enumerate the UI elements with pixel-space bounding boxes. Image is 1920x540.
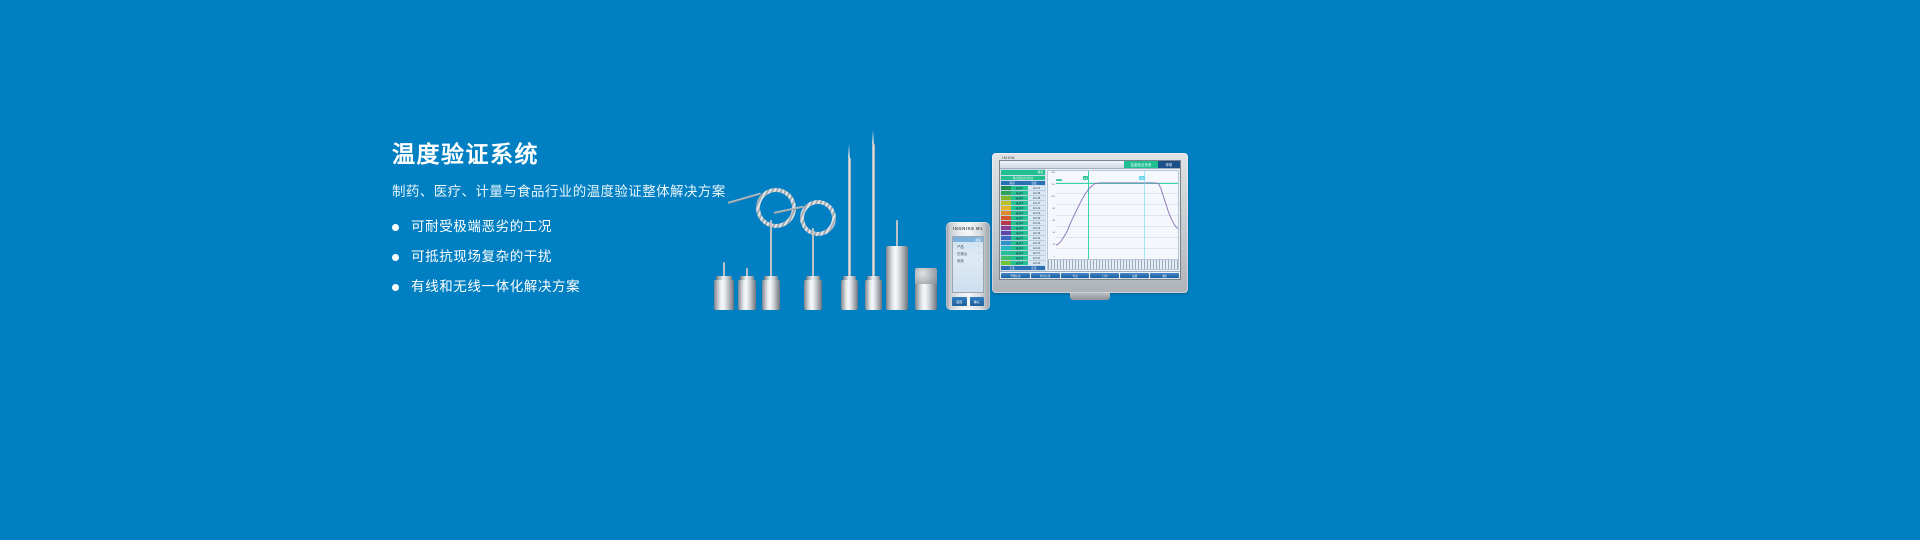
handheld-row-value: ◦ (978, 251, 979, 256)
channel-color-swatch (1001, 256, 1011, 260)
channel-color-swatch (1001, 206, 1011, 210)
channel-color-swatch (1001, 226, 1011, 230)
channel-color-swatch (1001, 211, 1011, 215)
bullet-dot-icon (392, 224, 399, 231)
channel-value: 121.21 (1028, 256, 1045, 260)
y-tick-label: 140 (1051, 172, 1055, 174)
y-tick-label: 40 (1053, 232, 1055, 234)
software-body: 通道 测点温度实时显示 通道 温度 通道01121.31通道02121.28通道… (1000, 169, 1180, 271)
channel-value: 121.19 (1028, 231, 1045, 235)
panel-title: 通道 (1001, 170, 1045, 175)
y-tick-label: 0 (1054, 256, 1055, 258)
handheld-brand-bar: INGNIKE M1 (946, 226, 990, 231)
channel-color-swatch (1001, 236, 1011, 240)
channel-value: 121.26 (1028, 221, 1045, 225)
software-button-bar: 开始记录停止记录导出打印设置退出 (1000, 271, 1180, 279)
channel-color-swatch (1001, 186, 1011, 190)
feature-text: 可耐受极端恶劣的工况 (411, 218, 552, 236)
channel-name: 通道04 (1011, 201, 1028, 205)
bullet-dot-icon (392, 284, 399, 291)
channel-name: 通道01 (1011, 186, 1028, 190)
y-tick-label: 60 (1053, 220, 1055, 222)
tab-temperature-validation[interactable]: 温度验证系统 (1124, 161, 1158, 168)
channel-value: 121.42 (1028, 206, 1045, 210)
bullet-dot-icon (392, 254, 399, 261)
monitor-stand (1070, 293, 1110, 300)
handheld-reader[interactable]: INGNIKE M1 温度 产品 ◦ 记录仪 ◦ 系统 ◦ (946, 222, 990, 310)
channel-name: 通道15 (1011, 256, 1028, 260)
y-tick-label: 100 (1051, 196, 1055, 198)
chart-plot: 140120100806040200 (1047, 170, 1179, 260)
channel-panel: 通道 测点温度实时显示 通道 温度 通道01121.31通道02121.28通道… (1000, 169, 1046, 271)
handheld-model: M1 (976, 226, 983, 231)
software-action-button[interactable]: 停止记录 (1031, 273, 1060, 278)
handheld-key-confirm[interactable]: 确认 (970, 297, 985, 306)
handheld-row-label: 产品 (957, 244, 964, 249)
table-row[interactable]: 通道16121.40 (1001, 261, 1045, 265)
select-all-button[interactable]: 全选 (1009, 266, 1014, 270)
software-action-button[interactable]: 退出 (1150, 273, 1179, 278)
handheld-screen-title: 温度 (975, 238, 981, 242)
channel-color-swatch (1001, 196, 1011, 200)
panel-subtitle: 测点温度实时显示 (1001, 176, 1045, 181)
channel-value: 121.44 (1028, 236, 1045, 240)
channel-value: 121.37 (1028, 251, 1045, 255)
channel-value: 121.40 (1028, 261, 1045, 265)
tab-help[interactable]: 帮助 (1158, 161, 1180, 168)
invert-selection-button[interactable]: 反选 (1031, 266, 1036, 270)
channel-value: 121.31 (1028, 186, 1045, 190)
channel-name: 通道11 (1011, 236, 1028, 240)
channel-name: 通道16 (1011, 261, 1028, 265)
monitor-display: INON 温度验证系统 帮助 通道 测点温度实时显示 通道 温度 (992, 153, 1188, 293)
chart-plot-area[interactable]: A点 B点 121 (1056, 171, 1178, 259)
channel-value: 121.24 (1028, 246, 1045, 250)
software-screen: 温度验证系统 帮助 通道 测点温度实时显示 通道 温度 通道01121.31通道… (999, 160, 1181, 280)
panel-footer: 全选 反选 (1001, 266, 1045, 271)
column-header-temp: 温度 (1031, 181, 1036, 185)
handheld-keypad: 返回 确认 (952, 297, 984, 306)
software-action-button[interactable]: 打印 (1090, 273, 1119, 278)
column-header-channel: 通道 (1009, 181, 1014, 185)
channel-color-swatch (1001, 221, 1011, 225)
channel-value: 121.39 (1028, 216, 1045, 220)
channel-name: 通道09 (1011, 226, 1028, 230)
y-tick-label: 120 (1051, 184, 1055, 186)
channel-name: 通道07 (1011, 216, 1028, 220)
software-action-button[interactable]: 开始记录 (1001, 273, 1030, 278)
feature-text: 有线和无线一体化解决方案 (411, 278, 580, 296)
channel-value: 121.22 (1028, 211, 1045, 215)
handheld-row-label: 系统 (957, 258, 964, 263)
handheld-row-value: ◦ (978, 258, 979, 263)
channel-value: 121.35 (1028, 196, 1045, 200)
chart-x-axis (1047, 260, 1179, 270)
hero-banner: 温度验证系统 制药、医疗、计量与食品行业的温度验证整体解决方案 可耐受极端恶劣的… (0, 0, 1920, 540)
channel-name: 通道08 (1011, 221, 1028, 225)
channel-color-swatch (1001, 251, 1011, 255)
channel-name: 通道03 (1011, 196, 1028, 200)
y-tick-label: 80 (1053, 208, 1055, 210)
product-imagery: INGNIKE M1 温度 产品 ◦ 记录仪 ◦ 系统 ◦ (700, 120, 1220, 310)
channel-color-swatch (1001, 201, 1011, 205)
channel-table[interactable]: 通道01121.31通道02121.28通道03121.35通道04121.17… (1001, 186, 1045, 265)
channel-value: 121.30 (1028, 241, 1045, 245)
y-tick-label: 20 (1053, 244, 1055, 246)
channel-value: 121.33 (1028, 226, 1045, 230)
chart-y-axis: 140120100806040200 (1048, 171, 1056, 259)
feature-text: 可抵抗现场复杂的干扰 (411, 248, 552, 266)
handheld-brand: INGNIKE (953, 226, 975, 231)
channel-name: 通道10 (1011, 231, 1028, 235)
software-action-button[interactable]: 设置 (1120, 273, 1149, 278)
chart-panel: 140120100806040200 (1046, 169, 1180, 271)
channel-color-swatch (1001, 241, 1011, 245)
channel-name: 通道06 (1011, 211, 1028, 215)
channel-name: 通道12 (1011, 241, 1028, 245)
channel-color-swatch (1001, 231, 1011, 235)
channel-color-swatch (1001, 216, 1011, 220)
channel-name: 通道14 (1011, 251, 1028, 255)
channel-color-swatch (1001, 261, 1011, 265)
software-toolbar: 温度验证系统 帮助 (1000, 161, 1180, 169)
monitor-brand: INON (1002, 155, 1015, 160)
handheld-menu-row[interactable]: 产品 ◦ (953, 242, 983, 249)
handheld-screen: 温度 产品 ◦ 记录仪 ◦ 系统 ◦ (952, 236, 984, 293)
channel-name: 通道13 (1011, 246, 1028, 250)
channel-value: 121.17 (1028, 201, 1045, 205)
handheld-row-label: 记录仪 (957, 251, 967, 256)
handheld-key-back[interactable]: 返回 (952, 297, 967, 306)
handheld-menu-row[interactable]: 记录仪 ◦ (953, 249, 983, 256)
channel-color-swatch (1001, 191, 1011, 195)
software-action-button[interactable]: 导出 (1061, 273, 1090, 278)
temperature-curve (1056, 171, 1178, 259)
channel-name: 通道05 (1011, 206, 1028, 210)
toolbar-spacer (1000, 161, 1124, 168)
handheld-row-value: ◦ (978, 244, 979, 249)
channel-color-swatch (1001, 246, 1011, 250)
handheld-menu-row[interactable]: 系统 ◦ (953, 256, 983, 263)
table-header: 通道 温度 (1001, 181, 1045, 185)
channel-name: 通道02 (1011, 191, 1028, 195)
channel-value: 121.28 (1028, 191, 1045, 195)
